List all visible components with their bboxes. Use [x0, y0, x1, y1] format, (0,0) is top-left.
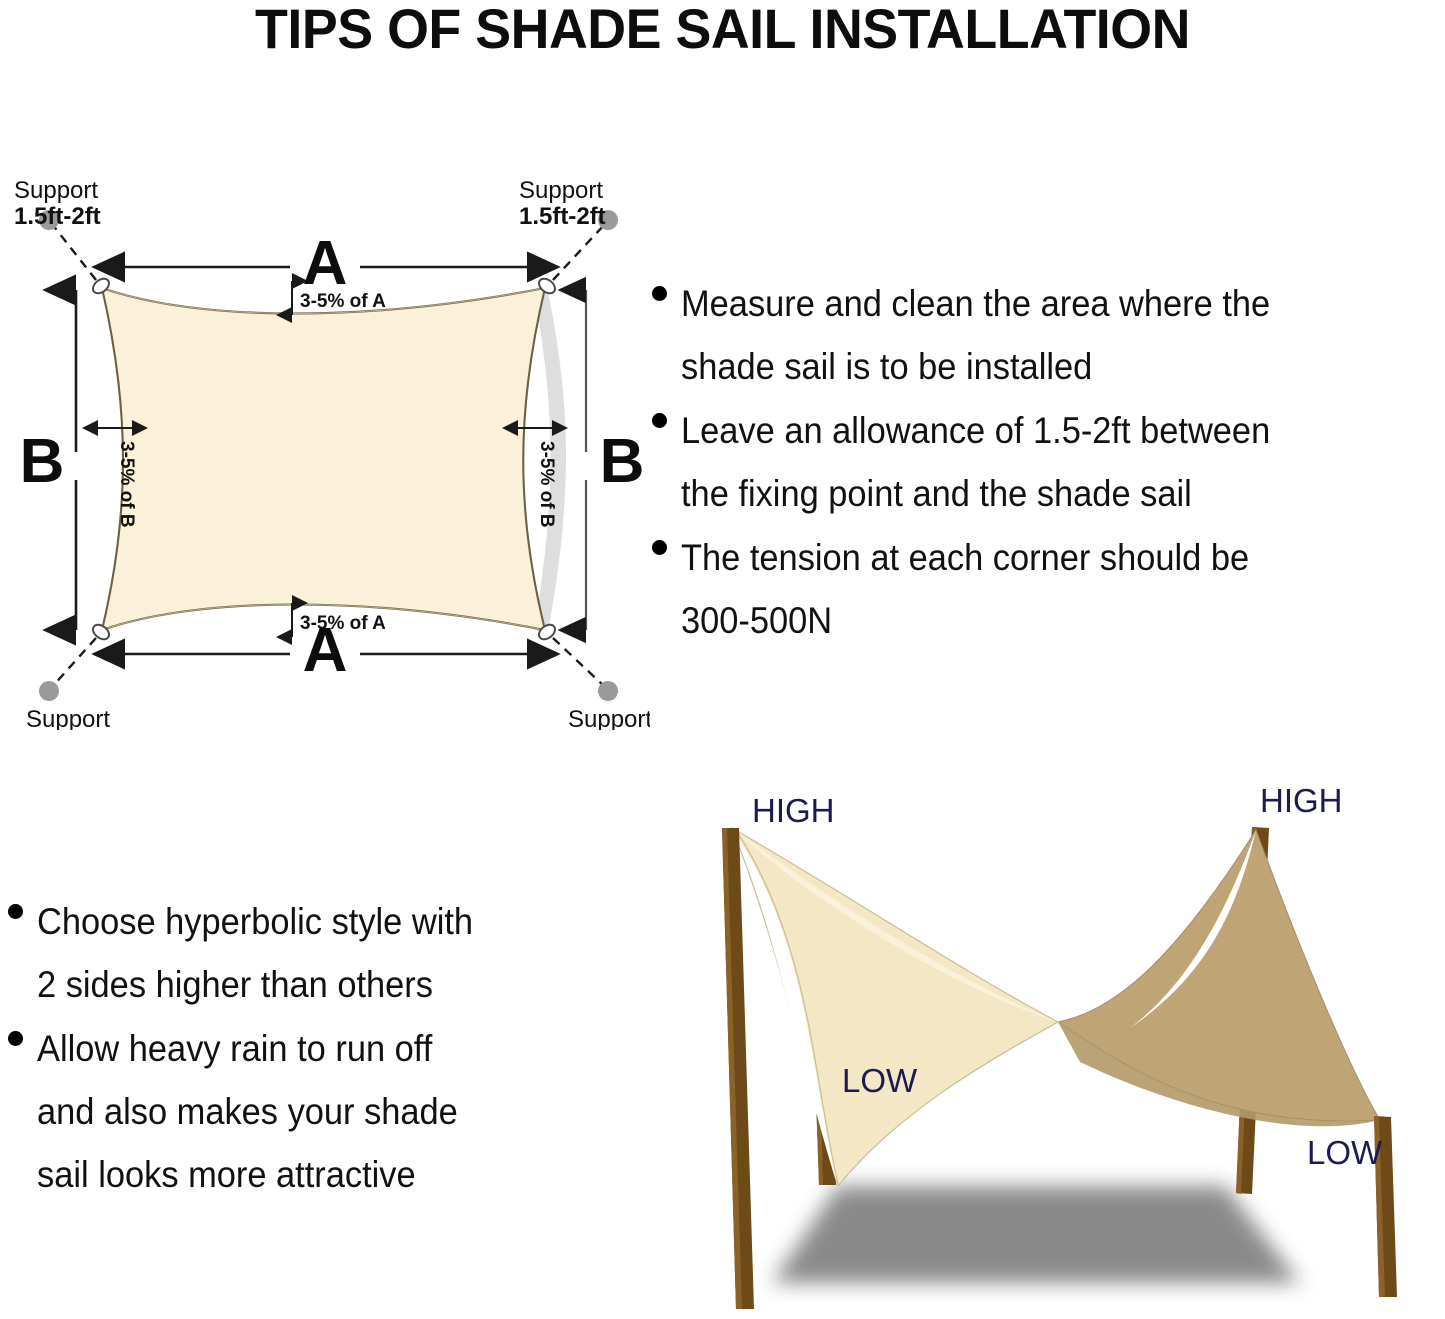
support-label-bottom-right: Support 1.5ft-2ft — [568, 706, 650, 730]
sail-face-front — [732, 828, 1058, 1186]
bullet-dot-icon — [652, 286, 667, 301]
list-item-text: Allow heavy rain to run off and also mak… — [37, 1017, 458, 1206]
support-dot-bottom-right — [598, 681, 618, 701]
post-high-left — [722, 828, 754, 1309]
rectangle-sail-diagram: A A B B 3-5% of A 3-5% of A 3-5% of B 3-… — [0, 160, 650, 730]
list-item-text: The tension at each corner should be 300… — [681, 526, 1249, 652]
svg-text:1.5ft-2ft: 1.5ft-2ft — [14, 203, 101, 230]
shade-sail-shape — [102, 288, 545, 630]
curve-note-top: 3-5% of A — [300, 291, 386, 312]
list-item: The tension at each corner should be 300… — [652, 526, 1445, 652]
support-label-top-right: Support 1.5ft-2ft — [519, 177, 606, 230]
dimension-label-right-B: B — [600, 427, 645, 496]
tips-list-installation: Measure and clean the area where the sha… — [652, 272, 1445, 653]
support-label-top-left: Support 1.5ft-2ft — [14, 177, 101, 230]
curve-note-left: 3-5% of B — [116, 441, 137, 528]
tips-list-hyperbolic: Choose hyperbolic style with 2 sides hig… — [8, 890, 628, 1207]
bullet-dot-icon — [8, 1031, 23, 1046]
svg-text:1.5ft-2ft: 1.5ft-2ft — [519, 203, 606, 230]
bullet-dot-icon — [652, 413, 667, 428]
svg-text:Support: Support — [26, 706, 110, 730]
list-item: Allow heavy rain to run off and also mak… — [8, 1017, 628, 1206]
svg-text:Support: Support — [14, 177, 98, 204]
dimension-label-left-B: B — [20, 427, 65, 496]
svg-text:Support: Support — [519, 177, 603, 204]
bullet-dot-icon — [8, 904, 23, 919]
post-label-low-left: LOW — [842, 1062, 918, 1099]
ground-shadow — [772, 1186, 1300, 1283]
curve-note-bottom: 3-5% of A — [300, 613, 386, 634]
curve-note-right: 3-5% of B — [536, 441, 557, 528]
svg-text:Support: Support — [568, 706, 650, 730]
post-label-low-right: LOW — [1307, 1134, 1383, 1171]
post-label-high-left: HIGH — [752, 792, 835, 829]
list-item: Choose hyperbolic style with 2 sides hig… — [8, 890, 628, 1016]
bullet-dot-icon — [652, 540, 667, 555]
list-item-text: Measure and clean the area where the sha… — [681, 272, 1270, 398]
sail-face-back — [1058, 830, 1380, 1121]
page-title: TIPS OF SHADE SAIL INSTALLATION — [29, 0, 1416, 60]
list-item-text: Choose hyperbolic style with 2 sides hig… — [37, 890, 473, 1016]
dimension-label-top-A: A — [303, 229, 348, 298]
list-item: Leave an allowance of 1.5-2ft between th… — [652, 399, 1445, 525]
list-item: Measure and clean the area where the sha… — [652, 272, 1445, 398]
support-dot-bottom-left — [39, 681, 59, 701]
support-label-bottom-left: Support 1.5ft-2ft — [26, 706, 113, 730]
list-item-text: Leave an allowance of 1.5-2ft between th… — [681, 399, 1270, 525]
post-label-high-right: HIGH — [1260, 782, 1343, 819]
hyperbolic-sail-illustration: HIGH HIGH LOW LOW — [660, 770, 1445, 1319]
